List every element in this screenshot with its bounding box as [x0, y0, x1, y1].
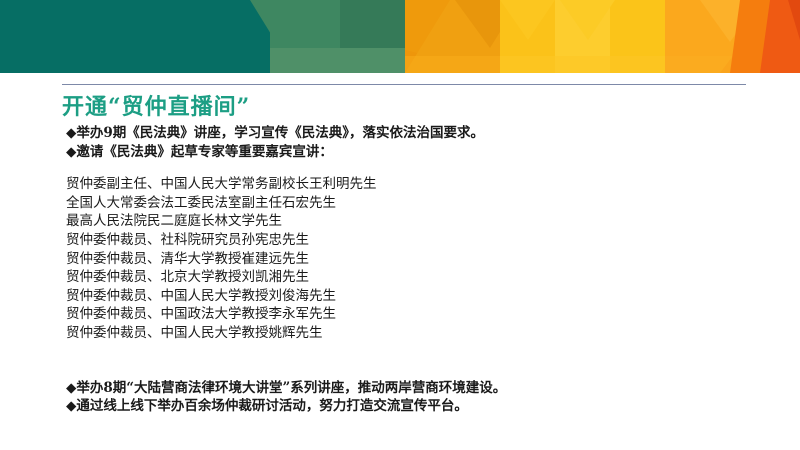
bullet-item-4: ◆通过线上线下举办百余场仲裁研讨活动，努力打造交流宣传平台。: [66, 397, 766, 416]
title-divider: [62, 84, 746, 85]
spacer-before-footer-bullets: [66, 343, 766, 379]
speaker-item-6: 贸仲委仲裁员、北京大学教授刘凯湘先生: [66, 268, 766, 287]
page-title: 开通“贸仲直播间”: [62, 89, 250, 121]
speaker-item-7: 贸仲委仲裁员、中国人民大学教授刘俊海先生: [66, 287, 766, 306]
slide-content: ◆举办9期《民法典》讲座，学习宣传《民法典》，落实依法治国要求。 ◆邀请《民法典…: [66, 124, 766, 416]
banner-green-tri-3: [340, 0, 405, 48]
bullet-item-1: ◆举办9期《民法典》讲座，学习宣传《民法典》，落实依法治国要求。: [66, 124, 766, 143]
banner-green-tri-2: [270, 48, 405, 73]
speaker-item-2: 全国人大常委会法工委民法室副主任石宏先生: [66, 194, 766, 213]
speaker-item-1: 贸仲委副主任、中国人民大学常务副校长王利明先生: [66, 175, 766, 194]
speaker-item-9: 贸仲委仲裁员、中国人民大学教授姚辉先生: [66, 324, 766, 343]
speaker-item-5: 贸仲委仲裁员、清华大学教授崔建远先生: [66, 250, 766, 269]
header-banner: [0, 0, 800, 73]
spacer-after-bullets: [66, 161, 766, 175]
speaker-item-4: 贸仲委仲裁员、社科院研究员孙宪忠先生: [66, 231, 766, 250]
bullet-item-2: ◆邀请《民法典》起草专家等重要嘉宾宣讲：: [66, 143, 766, 162]
banner-triangle-graphic: [0, 0, 800, 73]
speaker-item-8: 贸仲委仲裁员、中国政法大学教授李永军先生: [66, 305, 766, 324]
speaker-item-3: 最高人民法院民二庭庭长林文学先生: [66, 212, 766, 231]
banner-teal-block: [0, 0, 270, 73]
bullet-item-3: ◆举办8期“大陆营商法律环境大讲堂”系列讲座，推动两岸营商环境建设。: [66, 379, 766, 398]
slide-body: 开通“贸仲直播间” ◆举办9期《民法典》讲座，学习宣传《民法典》，落实依法治国要…: [0, 73, 800, 450]
